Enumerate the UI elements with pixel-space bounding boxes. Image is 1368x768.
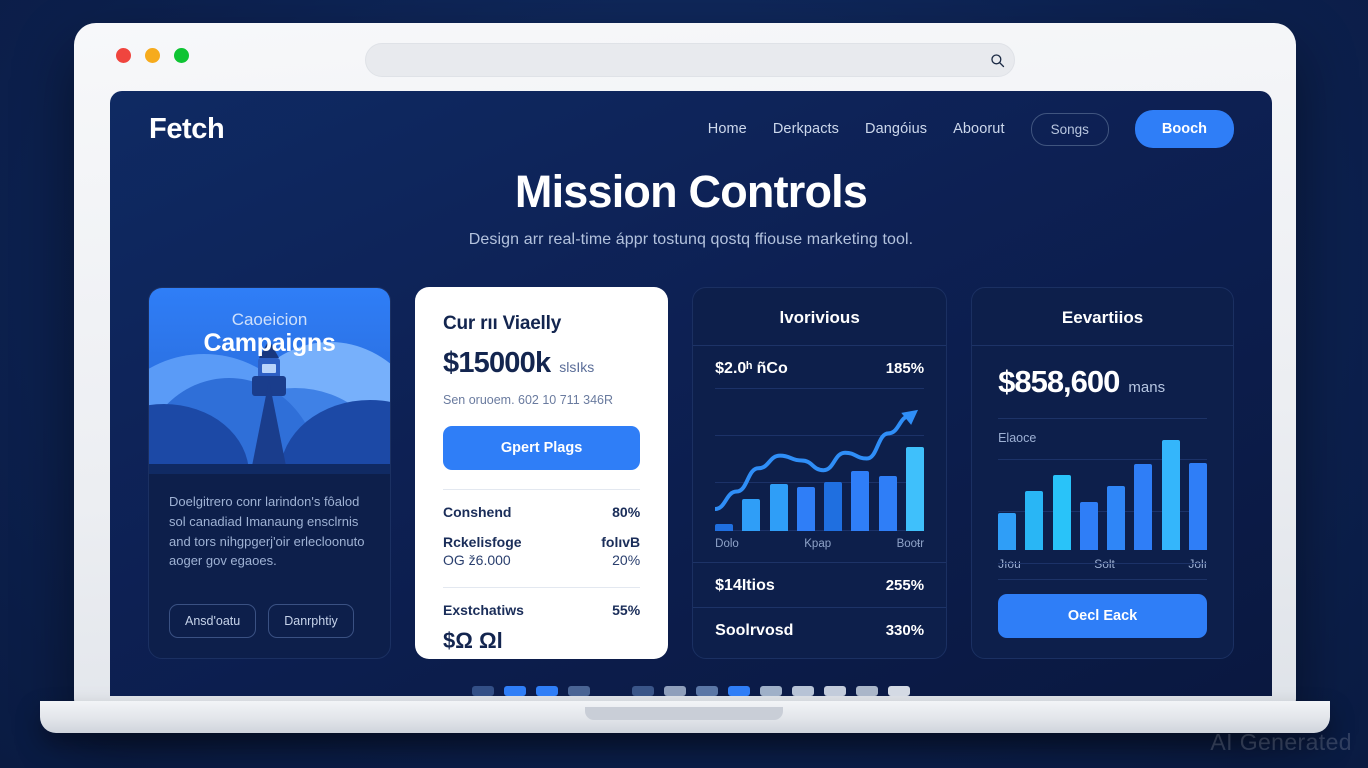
chart-bar [770, 484, 788, 531]
revenue-amount-unit: mans [1128, 379, 1165, 396]
ivorivious-stat-value: 185% [886, 360, 924, 377]
viaelly-row-3-value: 20% [612, 552, 640, 568]
app-navbar: Fetch Home Derkpacts Dangóius Aboorut So… [110, 91, 1272, 167]
chart-bar [797, 487, 815, 531]
nav-link-dangoius[interactable]: Dangóius [865, 121, 927, 137]
viaelly-amount-row: $15000k slsIks [443, 347, 640, 380]
ivorivious-bars [715, 447, 924, 531]
card-title: Campaigns [149, 329, 390, 358]
ivorivious-xaxis-labels: Dolo Kpap Booŧr [715, 538, 924, 550]
pagination-dash[interactable] [824, 686, 846, 696]
viaelly-title: Cur rıı Viaelly [443, 313, 640, 335]
card-viaelly[interactable]: Cur rıı Viaelly $15000k slsIks Sen oruoe… [415, 287, 668, 659]
nav-link-derkpacts[interactable]: Derkpacts [773, 121, 839, 137]
nav-pill-songs[interactable]: Songs [1031, 113, 1109, 146]
chart-bar [1025, 491, 1043, 549]
ivorivious-xlabel-1: Dolo [715, 538, 739, 550]
close-window-button[interactable] [116, 48, 131, 63]
viaelly-row-2-value: folıvB [601, 534, 640, 550]
nav-cta-booch[interactable]: Booch [1135, 110, 1234, 148]
card-kicker: Caoeicion [149, 310, 390, 330]
viaelly-clipped-amount: $Ω Ωl [443, 628, 640, 654]
page-subtitle: Design arr real-time áppr tostunq qostq … [110, 231, 1272, 249]
revenue-action-wrap: Oecl Eack [972, 580, 1233, 658]
lighthouse-window-icon [262, 364, 276, 373]
revenue-cta-button[interactable]: Oecl Eack [998, 594, 1207, 638]
revenue-amount-row: $858,600 mans [972, 346, 1233, 400]
ivorivious-row-1-label: $14Itios [715, 577, 775, 595]
viaelly-divider-1 [443, 489, 640, 490]
chart-bar [1107, 486, 1125, 550]
chart-bar [998, 513, 1016, 549]
address-search-bar[interactable] [365, 43, 1015, 77]
revenue-amount: $858,600 [998, 364, 1119, 400]
pagination-dash[interactable] [728, 686, 750, 696]
pagination-dash[interactable] [536, 686, 558, 696]
maximize-window-button[interactable] [174, 48, 189, 63]
carousel-pagination[interactable] [110, 682, 1272, 696]
chart-bar [851, 471, 869, 531]
nav-links: Home Derkpacts Dangóius Aboorut Songs Bo… [708, 110, 1234, 148]
viaelly-row-1-value: 80% [612, 504, 640, 520]
ivorivious-stat-row: $2.0ʰ ñCo 185% [693, 346, 946, 378]
chart-bar [715, 524, 733, 531]
campaigns-primary-action-button[interactable]: Ansd'oatu [169, 604, 256, 638]
pagination-dash[interactable] [472, 686, 494, 696]
pagination-dash[interactable] [760, 686, 782, 696]
revenue-header: Eevartiios [972, 288, 1233, 346]
viaelly-cta-button[interactable]: Gpert Plags [443, 426, 640, 470]
search-input[interactable] [366, 44, 980, 76]
viaelly-row-3: OG ž6.000 20% [443, 552, 640, 568]
chart-bar [1080, 502, 1098, 549]
card-revenue[interactable]: Eevartiios $858,600 mans Elaoce Jıou Sol… [971, 287, 1234, 659]
viaelly-row-2-label: Rckelisfoge [443, 534, 522, 550]
viaelly-row-1-label: Conshend [443, 504, 511, 520]
viaelly-row-1: Conshend 80% [443, 504, 640, 520]
lighthouse-illustration: Caoeicion Campaigns [149, 288, 390, 474]
campaigns-secondary-action-button[interactable]: Danrphtiy [268, 604, 354, 638]
revenue-chart [998, 453, 1207, 550]
brand-logo[interactable]: Fetch [149, 113, 224, 146]
pagination-dash[interactable] [696, 686, 718, 696]
ai-generated-watermark: AI Generated [1210, 729, 1352, 756]
pagination-dash[interactable] [568, 686, 590, 696]
nav-link-aboorut[interactable]: Aboorut [953, 121, 1005, 137]
card-campaigns-body: Doelgitrero conr larindon's fôalod sol c… [149, 474, 390, 604]
lighthouse-tower-icon [252, 380, 286, 466]
viaelly-amount: $15000k [443, 347, 550, 380]
revenue-bars [998, 440, 1207, 550]
minimize-window-button[interactable] [145, 48, 160, 63]
app-viewport: Fetch Home Derkpacts Dangóius Aboorut So… [110, 91, 1272, 696]
ivorivious-row-1: $14Itios 255% [693, 563, 946, 595]
viaelly-row-3-label: OG ž6.000 [443, 552, 511, 568]
chart-bar [906, 447, 924, 531]
pagination-dash[interactable] [856, 686, 878, 696]
card-campaigns-actions: Ansd'oatu Danrphtiy [149, 604, 390, 658]
chart-bar [879, 476, 897, 531]
pagination-dash[interactable] [664, 686, 686, 696]
card-ivorivious[interactable]: lvorivious $2.0ʰ ñCo 185% [692, 287, 947, 659]
pagination-dash[interactable] [632, 686, 654, 696]
card-campaigns-description: Doelgitrero conr larindon's fôalod sol c… [169, 492, 370, 571]
laptop-notch [585, 707, 783, 720]
pagination-dash[interactable] [504, 686, 526, 696]
viaelly-divider-2 [443, 587, 640, 588]
hero-section: Mission Controls Design arr real-time áp… [110, 167, 1272, 249]
chart-bar [1162, 440, 1180, 550]
chart-bar [824, 482, 842, 531]
viaelly-row-2: Rckelisfoge folıvB [443, 534, 640, 550]
page-title: Mission Controls [110, 167, 1272, 217]
ivorivious-row-2-label: Soolrvosd [715, 622, 793, 640]
search-icon[interactable] [980, 53, 1014, 68]
ivorivious-stat-label: $2.0ʰ ñCo [715, 360, 788, 378]
pagination-dash[interactable] [888, 686, 910, 696]
viaelly-row-4-label: Exstchatiws [443, 602, 524, 618]
window-controls [116, 48, 189, 63]
nav-link-home[interactable]: Home [708, 121, 747, 137]
ivorivious-chart [715, 388, 924, 531]
card-campaigns[interactable]: Caoeicion Campaigns Doelgitrero conr lar… [148, 287, 391, 659]
browser-chrome [74, 23, 1296, 91]
cards-row: Caoeicion Campaigns Doelgitrero conr lar… [148, 287, 1234, 659]
ivorivious-row-2-value: 330% [886, 622, 924, 639]
viaelly-row-4-value: 55% [612, 602, 640, 618]
ivorivious-header: lvorivious [693, 288, 946, 346]
viaelly-row-4: Exstchatiws 55% [443, 602, 640, 618]
chart-bar [1189, 463, 1207, 550]
ivorivious-row-1-value: 255% [886, 577, 924, 594]
pagination-dash[interactable] [600, 686, 622, 696]
ivorivious-xlabel-3: Booŧr [897, 538, 925, 550]
pagination-dash[interactable] [792, 686, 814, 696]
viaelly-amount-unit: slsIks [559, 359, 594, 375]
ivorivious-row-2: Soolrvosd 330% [693, 608, 946, 640]
chart-bar [1053, 475, 1071, 550]
chart-bar [1134, 464, 1152, 550]
screenshot-stage: Fetch Home Derkpacts Dangóius Aboorut So… [0, 0, 1368, 768]
chart-bar [742, 499, 760, 531]
viaelly-note: Sen oruoem. 602 10 711 346R [443, 393, 640, 407]
ivorivious-xlabel-2: Kpap [804, 538, 831, 550]
